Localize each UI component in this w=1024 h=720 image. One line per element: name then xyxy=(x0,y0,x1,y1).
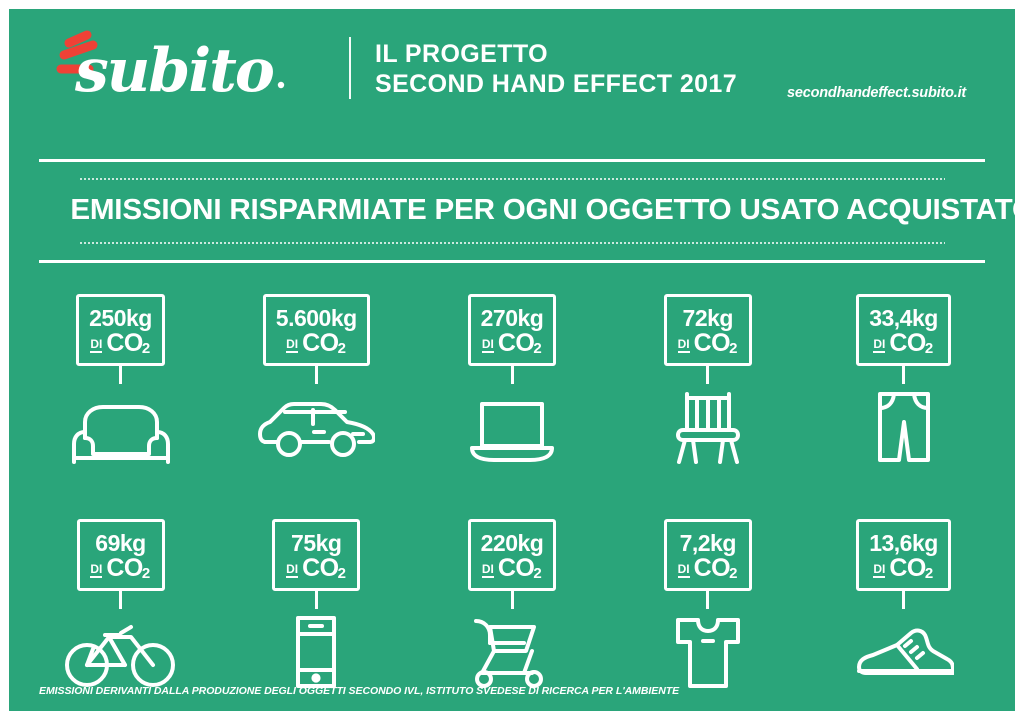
co2-badge: 69kg DI CO2 xyxy=(77,519,165,591)
infographic-canvas: subito IL PROGETTO SECOND HAND EFFECT 20… xyxy=(0,0,1024,720)
co2-badge: 250kg DI CO2 xyxy=(76,294,165,366)
co2-badge: 72kg DI CO2 xyxy=(664,294,752,366)
co2-formula: CO2 xyxy=(106,331,150,355)
footnote: EMISSIONI DERIVANTI DALLA PRODUZIONE DEG… xyxy=(39,685,679,697)
co2-value: 33,4kg xyxy=(869,306,938,330)
co2-formula: CO2 xyxy=(302,556,346,580)
svg-text:subito: subito xyxy=(74,36,274,106)
bicycle-icon xyxy=(65,611,177,689)
co2-formula: CO2 xyxy=(106,556,150,580)
rule-solid-bottom xyxy=(39,260,985,263)
badge-connector xyxy=(902,366,905,384)
badge-connector xyxy=(119,591,122,609)
co2-value: 270kg xyxy=(481,306,544,330)
co2-di-label: DI xyxy=(873,338,885,353)
stroller-icon xyxy=(470,611,554,689)
item-cell: 72kg DI CO2 xyxy=(610,294,805,464)
rule-dotted-bottom xyxy=(79,242,945,244)
co2-value: 5.600kg xyxy=(276,306,357,330)
section-title-band: EMISSIONI RISPARMIATE PER OGNI OGGETTO U… xyxy=(39,159,985,263)
logo-dot xyxy=(278,82,284,88)
item-cell: 7,2kg DI CO2 xyxy=(610,519,805,689)
badge-connector xyxy=(315,366,318,384)
item-cell: 270kg DI CO2 xyxy=(415,294,610,464)
co2-value: 69kg xyxy=(90,531,152,555)
item-cell: 33,4kg DI CO2 xyxy=(806,294,1001,464)
co2-di-label: DI xyxy=(482,563,494,578)
laptop-icon xyxy=(460,386,564,464)
section-title: EMISSIONI RISPARMIATE PER OGNI OGGETTO U… xyxy=(70,180,953,242)
badge-connector xyxy=(511,591,514,609)
item-cell: 5.600kg DI CO2 xyxy=(219,294,414,464)
co2-value: 75kg xyxy=(285,531,347,555)
co2-di-label: DI xyxy=(678,338,690,353)
co2-di-label: DI xyxy=(678,563,690,578)
item-cell: 69kg DI CO2 xyxy=(23,519,218,689)
logo-wordmark: subito xyxy=(74,36,274,106)
items-row-1: 250kg DI CO2 xyxy=(23,294,1001,464)
smartphone-icon xyxy=(292,611,340,689)
sneaker-icon xyxy=(854,611,954,689)
item-cell: 75kg DI CO2 xyxy=(219,519,414,689)
co2-badge: 220kg DI CO2 xyxy=(468,519,557,591)
co2-badge: 7,2kg DI CO2 xyxy=(664,519,752,591)
project-title: IL PROGETTO SECOND HAND EFFECT 2017 xyxy=(375,39,737,99)
co2-di-label: DI xyxy=(286,563,298,578)
header: subito IL PROGETTO SECOND HAND EFFECT 20… xyxy=(9,9,1015,127)
co2-formula: CO2 xyxy=(889,331,933,355)
item-cell: 13,6kg DI CO2 xyxy=(806,519,1001,689)
co2-value: 13,6kg xyxy=(869,531,938,555)
badge-connector xyxy=(119,366,122,384)
co2-formula: CO2 xyxy=(694,556,738,580)
badge-connector xyxy=(902,591,905,609)
co2-badge: 33,4kg DI CO2 xyxy=(856,294,951,366)
co2-badge: 75kg DI CO2 xyxy=(272,519,360,591)
items-grid: 250kg DI CO2 xyxy=(23,294,1001,689)
items-row-2: 69kg DI CO2 xyxy=(23,519,1001,689)
co2-badge: 13,6kg DI CO2 xyxy=(856,519,951,591)
co2-di-label: DI xyxy=(482,338,494,353)
co2-badge: 270kg DI CO2 xyxy=(468,294,557,366)
co2-formula: CO2 xyxy=(889,556,933,580)
co2-di-label: DI xyxy=(90,338,102,353)
chair-icon xyxy=(671,386,745,464)
header-divider xyxy=(349,37,351,99)
co2-formula: CO2 xyxy=(498,331,542,355)
item-cell: 220kg DI CO2 xyxy=(415,519,610,689)
subito-logo: subito xyxy=(31,29,301,109)
co2-value: 72kg xyxy=(677,306,739,330)
badge-connector xyxy=(315,591,318,609)
co2-badge: 5.600kg DI CO2 xyxy=(263,294,370,366)
trousers-icon xyxy=(871,386,937,464)
co2-di-label: DI xyxy=(873,563,885,578)
car-icon xyxy=(257,386,375,464)
co2-formula: CO2 xyxy=(498,556,542,580)
project-title-line2: SECOND HAND EFFECT 2017 xyxy=(375,69,737,99)
item-cell: 250kg DI CO2 xyxy=(23,294,218,464)
co2-di-label: DI xyxy=(90,563,102,578)
sofa-icon xyxy=(65,386,177,464)
co2-formula: CO2 xyxy=(694,331,738,355)
badge-connector xyxy=(706,591,709,609)
co2-value: 220kg xyxy=(481,531,544,555)
site-url[interactable]: secondhandeffect.subito.it xyxy=(787,85,966,101)
co2-value: 250kg xyxy=(89,306,152,330)
badge-connector xyxy=(706,366,709,384)
badge-connector xyxy=(511,366,514,384)
co2-di-label: DI xyxy=(286,338,298,353)
co2-formula: CO2 xyxy=(302,331,346,355)
co2-value: 7,2kg xyxy=(677,531,739,555)
tshirt-icon xyxy=(672,611,744,689)
project-title-line1: IL PROGETTO xyxy=(375,39,737,69)
